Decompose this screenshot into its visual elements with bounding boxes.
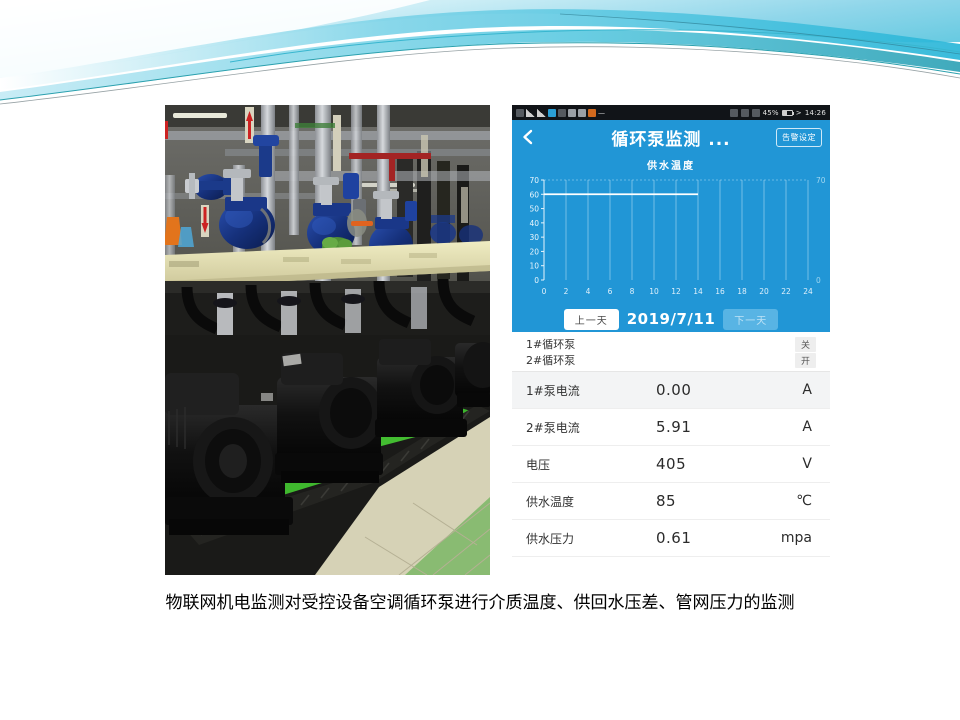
- reading-value: 405: [656, 455, 746, 473]
- current-date-label: 2019/7/11: [627, 310, 716, 328]
- reading-unit: ℃: [796, 493, 816, 509]
- svg-text:0: 0: [534, 276, 539, 285]
- svg-text:6: 6: [608, 287, 613, 296]
- svg-text:10: 10: [529, 262, 539, 271]
- folder-icon: [588, 109, 596, 117]
- previous-day-button[interactable]: 上一天: [564, 309, 619, 330]
- svg-text:20: 20: [529, 247, 539, 256]
- android-status-bar: — 45% > 14:26: [512, 105, 830, 120]
- chart-canvas: 010203040506070070024681012141618202224: [512, 172, 830, 308]
- reading-label: 2#泵电流: [526, 419, 656, 436]
- photo-icon: [548, 109, 556, 117]
- link-icon: [558, 109, 566, 117]
- eye-icon: [730, 109, 738, 117]
- reading-value: 0.61: [656, 529, 746, 547]
- reading-value: 85: [656, 492, 746, 510]
- readings-list: 1#泵电流0.00A2#泵电流5.91A电压405V供水温度85℃供水压力0.6…: [512, 372, 830, 557]
- reading-label: 供水压力: [526, 530, 656, 547]
- signal-bars-icon: [526, 109, 535, 117]
- phone-screenshot: — 45% > 14:26 循环泵监测 ... 告警设定 供水温度 010203…: [512, 105, 830, 575]
- reading-unit: A: [802, 382, 816, 398]
- svg-text:12: 12: [671, 287, 681, 296]
- svg-text:0: 0: [816, 276, 821, 285]
- reading-row[interactable]: 电压405V: [512, 446, 830, 483]
- pump-name-label: 1#循环泵: [526, 336, 575, 352]
- usb-icon: >: [796, 109, 802, 117]
- pump-status-list: 1#循环泵关2#循环泵开: [512, 332, 830, 371]
- slide-caption: 物联网机电监测对受控设备空调循环泵进行介质温度、供回水压差、管网压力的监测: [0, 588, 960, 613]
- reading-row[interactable]: 供水温度85℃: [512, 483, 830, 520]
- status-bar-left-icons: —: [516, 109, 605, 117]
- signal-bars-icon-2: [537, 109, 546, 117]
- hd-icon: [741, 109, 749, 117]
- status-bar-right-icons: 45% > 14:26: [730, 109, 826, 117]
- svg-text:70: 70: [529, 176, 539, 185]
- reading-row[interactable]: 供水压力0.61mpa: [512, 520, 830, 557]
- reading-row[interactable]: 2#泵电流5.91A: [512, 409, 830, 446]
- svg-text:24: 24: [803, 287, 813, 296]
- chevron-left-icon[interactable]: [520, 129, 536, 145]
- battery-icon: [782, 110, 793, 116]
- svg-text:4: 4: [586, 287, 591, 296]
- reading-label: 1#泵电流: [526, 382, 656, 399]
- svg-text:10: 10: [649, 287, 659, 296]
- reading-label: 电压: [526, 456, 656, 473]
- svg-text:8: 8: [630, 287, 635, 296]
- svg-text:30: 30: [529, 233, 539, 242]
- pump-name-label: 2#循环泵: [526, 352, 575, 368]
- more-dash-icon: —: [598, 109, 605, 117]
- reading-row[interactable]: 1#泵电流0.00A: [512, 372, 830, 409]
- reading-unit: A: [802, 419, 816, 435]
- app-bar: 循环泵监测 ... 告警设定: [512, 120, 830, 154]
- battery-percent-label: 45%: [763, 109, 779, 117]
- list-filler: [512, 557, 830, 575]
- next-day-button[interactable]: 下一天: [723, 309, 778, 330]
- pump-status-row[interactable]: 2#循环泵开: [512, 352, 830, 368]
- svg-text:50: 50: [529, 205, 539, 214]
- reading-unit: mpa: [781, 530, 816, 546]
- svg-text:18: 18: [737, 287, 747, 296]
- pump-status-row[interactable]: 1#循环泵关: [512, 336, 830, 352]
- pump-state-badge: 开: [795, 353, 816, 368]
- dual-sim-icon: [516, 109, 524, 117]
- clock-label: 14:26: [805, 109, 826, 117]
- alarm-settings-button[interactable]: 告警设定: [776, 128, 822, 147]
- reading-value: 0.00: [656, 381, 746, 399]
- slide-header-decoration: [0, 0, 960, 110]
- reading-value: 5.91: [656, 418, 746, 436]
- svg-text:70: 70: [816, 176, 826, 185]
- svg-text:16: 16: [715, 287, 725, 296]
- svg-text:22: 22: [781, 287, 791, 296]
- mechanical-room-photo: [165, 105, 490, 575]
- pump-state-badge: 关: [795, 337, 816, 352]
- svg-text:20: 20: [759, 287, 769, 296]
- document-icon: [578, 109, 586, 117]
- reading-unit: V: [802, 456, 816, 472]
- chart-title: 供水温度: [512, 156, 830, 172]
- svg-text:0: 0: [542, 287, 547, 296]
- supply-water-temperature-chart: 供水温度 01020304050607007002468101214161820…: [512, 154, 830, 306]
- shield-icon: [752, 109, 760, 117]
- camera-icon: [568, 109, 576, 117]
- svg-text:14: 14: [693, 287, 703, 296]
- svg-text:60: 60: [529, 190, 539, 199]
- svg-text:40: 40: [529, 219, 539, 228]
- date-navigation-bar: 上一天 2019/7/11 下一天: [512, 306, 830, 332]
- reading-label: 供水温度: [526, 493, 656, 510]
- svg-text:2: 2: [564, 287, 569, 296]
